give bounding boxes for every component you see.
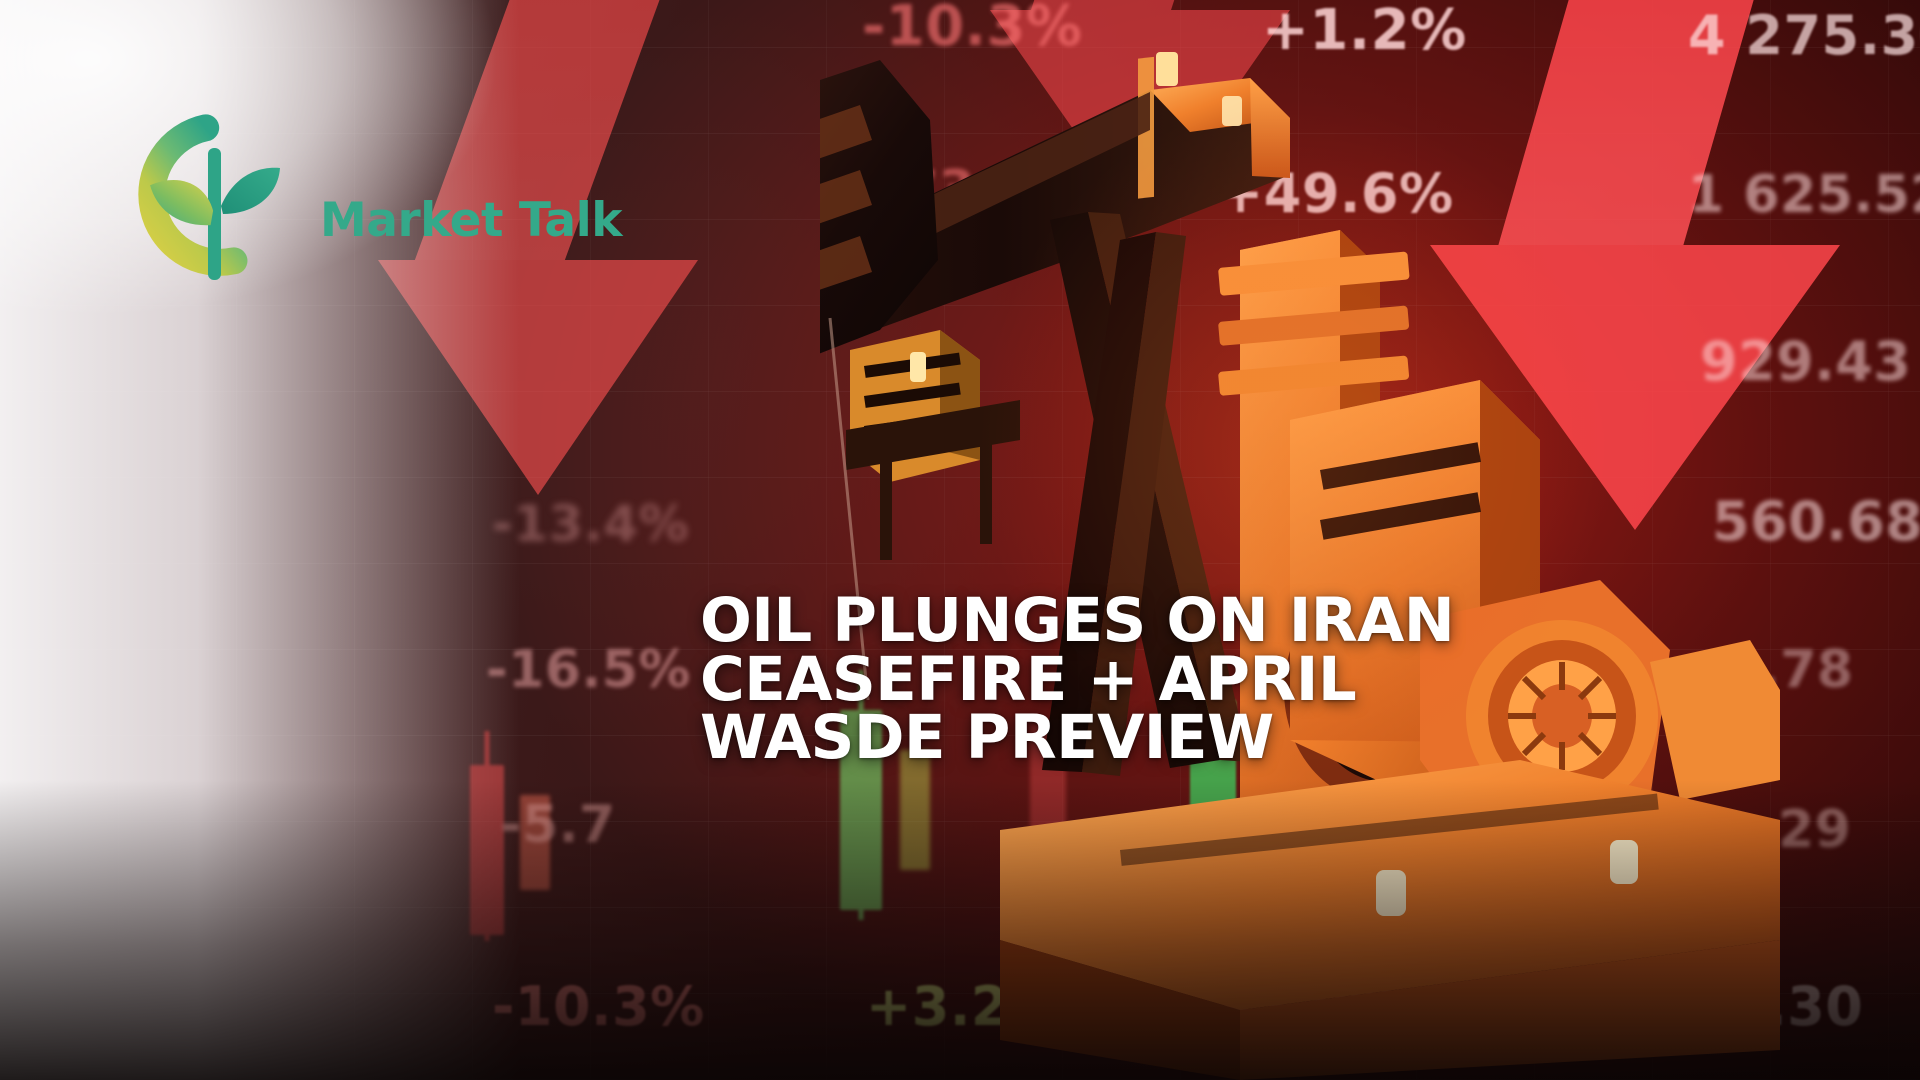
thumbnail-canvas: -10.3% +1.2% 4 275.30 -73.% +49.6% 1 625… — [0, 0, 1920, 1080]
headline-title: OIL PLUNGES ON IRAN CEASEFIRE + APRIL WA… — [700, 592, 1470, 768]
ticker-value: -13.4% — [492, 495, 689, 553]
ticker-value: -16.5% — [486, 640, 691, 700]
headline-line-2: CEASEFIRE + APRIL — [700, 651, 1470, 710]
leaf-sprout-circle-logo-icon — [122, 110, 302, 282]
bottom-dark-fade — [0, 780, 1920, 1080]
brand-logo[interactable]: Market Talk — [122, 110, 622, 282]
headline-line-1: OIL PLUNGES ON IRAN — [700, 592, 1470, 651]
brand-name: Market Talk — [320, 193, 622, 248]
headline-line-3: WASDE PREVIEW — [700, 709, 1470, 768]
